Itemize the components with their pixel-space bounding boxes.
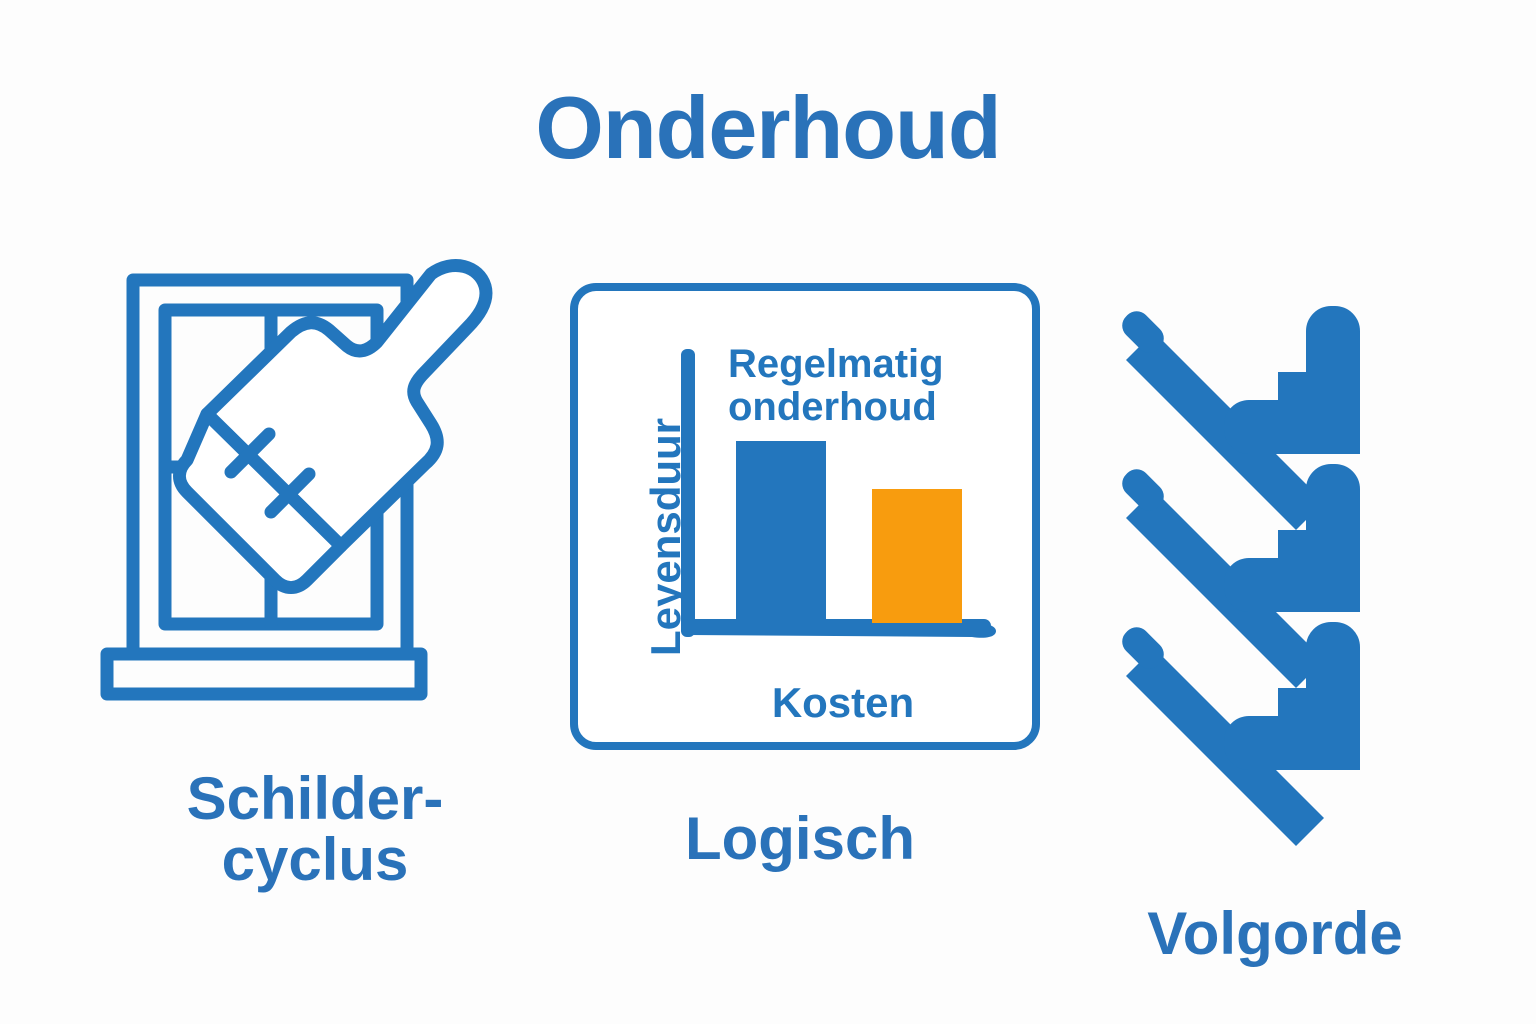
volgorde-label: Volgorde — [1090, 903, 1460, 964]
schildercyclus-icon-group — [95, 262, 535, 712]
logisch-chart-card: Leyensduur Regelmatig onderhoud Kosten — [570, 283, 1040, 750]
logisch-label: Logisch — [600, 808, 1000, 869]
schildercyclus-label: Schilder- cyclus — [60, 768, 570, 890]
chart-x-axis-label: Kosten — [698, 679, 988, 727]
window-paintbrush-icon — [95, 262, 535, 712]
bar-chart-plot — [674, 343, 1004, 673]
infographic-canvas: Onderhoud — [0, 0, 1536, 1024]
page-title: Onderhoud — [0, 84, 1536, 172]
chart-bar-orange — [872, 489, 962, 623]
arrow-3 — [1117, 622, 1360, 846]
chart-bar-blue — [736, 441, 826, 623]
chart-inner: Leyensduur Regelmatig onderhoud Kosten — [578, 291, 1048, 758]
volgorde-icon-group — [1110, 290, 1440, 910]
three-diagonal-arrows — [1110, 290, 1440, 910]
